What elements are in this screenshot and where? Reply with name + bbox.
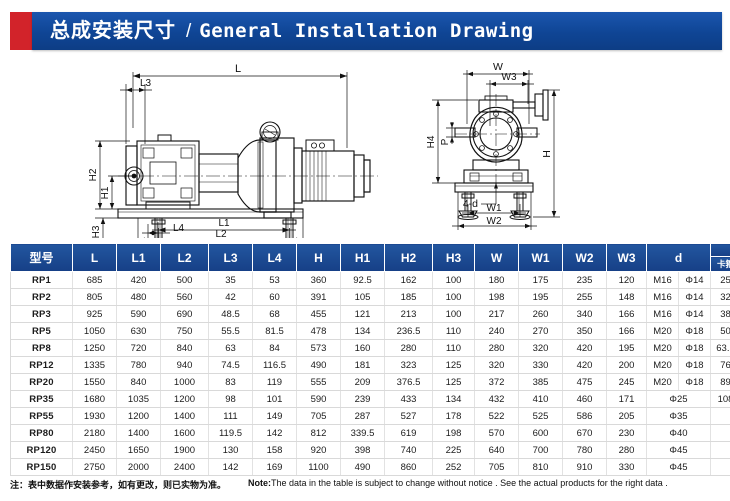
cell-H1: 160 xyxy=(341,340,385,357)
cell-H1: 92.5 xyxy=(341,272,385,289)
cell-L3: 111 xyxy=(209,408,253,425)
cell-L1: 420 xyxy=(117,272,161,289)
cell-H2: 185 xyxy=(385,289,433,306)
table-row: RP15027502000240014216911004908602527058… xyxy=(11,459,730,476)
cell-H1: 181 xyxy=(341,357,385,374)
cell-d1: M20 xyxy=(647,374,679,391)
cell-L4: 119 xyxy=(253,374,297,391)
dim-label-L: L xyxy=(235,63,241,75)
cell-L2: 500 xyxy=(161,272,209,289)
cell-d-merged: Φ40 xyxy=(647,425,711,442)
cell-H: 812 xyxy=(297,425,341,442)
page-title-chinese: 总成安装尺寸 xyxy=(50,21,176,41)
table-body: RP1685420500355336092.516210018017523512… xyxy=(11,272,730,476)
cell-L3: 83 xyxy=(209,374,253,391)
cell-H1: 490 xyxy=(341,459,385,476)
cell-W3: 166 xyxy=(607,306,647,323)
cell-W3: 120 xyxy=(607,272,647,289)
cell-L: 1250 xyxy=(73,340,117,357)
dim-label-H3: H3 xyxy=(91,225,102,238)
cell-H: 1100 xyxy=(297,459,341,476)
cell-H1: 105 xyxy=(341,289,385,306)
cell-W2: 670 xyxy=(563,425,607,442)
col-header-W1: W1 xyxy=(519,244,563,272)
cell-H3: 100 xyxy=(433,272,475,289)
cell-H2: 162 xyxy=(385,272,433,289)
cell-L: 1550 xyxy=(73,374,117,391)
side-elevation-view: L L3 xyxy=(88,63,378,238)
table-row: RP80218014001600119.5142812339.561919857… xyxy=(11,425,730,442)
header-row-top: 型号 L L1 L2 L3 L4 H H1 H2 H3 W W1 W2 W3 d… xyxy=(11,244,730,257)
cell-p1: 50 xyxy=(711,323,730,340)
cell-H1: 134 xyxy=(341,323,385,340)
dim-label-L4: L4 xyxy=(173,223,185,234)
dim-label-W3: W3 xyxy=(502,72,517,83)
cell-L2: 750 xyxy=(161,323,209,340)
cell-model: RP55 xyxy=(11,408,73,425)
cell-H2: 527 xyxy=(385,408,433,425)
cell-d1: M16 xyxy=(647,306,679,323)
dim-label-P: P xyxy=(440,138,451,145)
cell-p-merged: DN125 xyxy=(711,408,730,425)
cell-W2: 475 xyxy=(563,374,607,391)
cell-W2: 340 xyxy=(563,306,607,323)
dim-label-H4: H4 xyxy=(426,135,437,148)
cell-L1: 1400 xyxy=(117,425,161,442)
cell-H2: 740 xyxy=(385,442,433,459)
cell-H: 490 xyxy=(297,357,341,374)
cell-L2: 2400 xyxy=(161,459,209,476)
cell-H3: 134 xyxy=(433,391,475,408)
cell-H3: 178 xyxy=(433,408,475,425)
installation-drawing-page: 总成安装尺寸 / General Installation Drawing xyxy=(0,0,730,501)
specifications-table-wrapper: 型号 L L1 L2 L3 L4 H H1 H2 H3 W W1 W2 W3 d… xyxy=(10,243,722,476)
cell-model: RP12 xyxy=(11,357,73,374)
dim-label-L1: L1 xyxy=(218,218,230,229)
col-header-W3: W3 xyxy=(607,244,647,272)
cell-d-merged: Φ35 xyxy=(647,408,711,425)
col-header-H2: H2 xyxy=(385,244,433,272)
cell-model: RP3 xyxy=(11,306,73,323)
cell-d2: Φ18 xyxy=(679,357,711,374)
cell-W3: 280 xyxy=(607,442,647,459)
cell-W: 180 xyxy=(475,272,519,289)
cell-L: 1050 xyxy=(73,323,117,340)
footer-note-label: Note: xyxy=(248,478,271,488)
table-row: RP81250720840638457316028011028032042019… xyxy=(11,340,730,357)
col-header-W2: W2 xyxy=(563,244,607,272)
cell-W3: 195 xyxy=(607,340,647,357)
gearbox-side xyxy=(199,154,238,192)
col-header-d: d xyxy=(647,244,711,272)
cell-W: 705 xyxy=(475,459,519,476)
cell-L4: 142 xyxy=(253,425,297,442)
cell-p-merged: DN150 xyxy=(711,459,730,476)
cell-L4: 68 xyxy=(253,306,297,323)
cell-H3: 198 xyxy=(433,425,475,442)
cell-W1: 600 xyxy=(519,425,563,442)
cell-H1: 209 xyxy=(341,374,385,391)
table-row: RP12133578094074.5116.549018132312532033… xyxy=(11,357,730,374)
cell-L3: 55.5 xyxy=(209,323,253,340)
cell-L: 2750 xyxy=(73,459,117,476)
cell-H: 455 xyxy=(297,306,341,323)
cell-W: 372 xyxy=(475,374,519,391)
dim-label-4-d: 4-d xyxy=(463,198,478,210)
col-header-model: 型号 xyxy=(11,244,73,272)
cell-H: 391 xyxy=(297,289,341,306)
cell-W: 198 xyxy=(475,289,519,306)
cell-p-merged: DN125 xyxy=(711,425,730,442)
cell-model: RP35 xyxy=(11,391,73,408)
cell-W3: 330 xyxy=(607,459,647,476)
cell-H2: 433 xyxy=(385,391,433,408)
cell-L: 1930 xyxy=(73,408,117,425)
cell-L1: 630 xyxy=(117,323,161,340)
cell-L: 1680 xyxy=(73,391,117,408)
cell-W2: 235 xyxy=(563,272,607,289)
cell-W3: 205 xyxy=(607,408,647,425)
cell-d2: Φ14 xyxy=(679,272,711,289)
cell-W1: 410 xyxy=(519,391,563,408)
cell-L2: 840 xyxy=(161,340,209,357)
cell-L4: 116.5 xyxy=(253,357,297,374)
cell-L4: 81.5 xyxy=(253,323,297,340)
cell-L4: 84 xyxy=(253,340,297,357)
cell-W2: 460 xyxy=(563,391,607,408)
cell-L: 2180 xyxy=(73,425,117,442)
cell-W1: 525 xyxy=(519,408,563,425)
table-row: RP201550840100083119555209376.5125372385… xyxy=(11,374,730,391)
cell-L2: 1600 xyxy=(161,425,209,442)
cell-L4: 149 xyxy=(253,408,297,425)
table-row: RP35168010351200981015902394331344324104… xyxy=(11,391,730,408)
cell-W3: 171 xyxy=(607,391,647,408)
cell-H3: 125 xyxy=(433,374,475,391)
col-header-L1: L1 xyxy=(117,244,161,272)
cell-H: 705 xyxy=(297,408,341,425)
cell-L2: 1200 xyxy=(161,391,209,408)
cell-W2: 420 xyxy=(563,357,607,374)
cell-d-merged: Φ25 xyxy=(647,391,711,408)
specifications-table: 型号 L L1 L2 L3 L4 H H1 H2 H3 W W1 W2 W3 d… xyxy=(10,243,730,476)
cell-H2: 376.5 xyxy=(385,374,433,391)
col-header-H: H xyxy=(297,244,341,272)
pump-head-side xyxy=(125,135,199,209)
cell-L4: 169 xyxy=(253,459,297,476)
cell-L3: 63 xyxy=(209,340,253,357)
cell-L4: 53 xyxy=(253,272,297,289)
col-header-H1: H1 xyxy=(341,244,385,272)
cell-p-merged: DN150 xyxy=(711,442,730,459)
dim-label-L2: L2 xyxy=(215,229,227,238)
cell-p1: 25 xyxy=(711,272,730,289)
cell-d2: Φ18 xyxy=(679,323,711,340)
cell-W1: 810 xyxy=(519,459,563,476)
cell-model: RP5 xyxy=(11,323,73,340)
dim-label-H1: H1 xyxy=(100,186,111,199)
cell-W: 432 xyxy=(475,391,519,408)
cell-H: 360 xyxy=(297,272,341,289)
cell-H1: 339.5 xyxy=(341,425,385,442)
cell-H: 590 xyxy=(297,391,341,408)
cell-L3: 142 xyxy=(209,459,253,476)
technical-drawing-area: L L3 xyxy=(0,52,730,238)
cell-L3: 35 xyxy=(209,272,253,289)
cell-L2: 1900 xyxy=(161,442,209,459)
cell-H: 573 xyxy=(297,340,341,357)
table-row: RP12024501650190013015892039874022564070… xyxy=(11,442,730,459)
cell-d2: Φ14 xyxy=(679,306,711,323)
cell-H3: 110 xyxy=(433,340,475,357)
footer-note-english: Note:The data in the table is subject to… xyxy=(248,478,668,488)
cell-W3: 148 xyxy=(607,289,647,306)
cell-W1: 320 xyxy=(519,340,563,357)
cell-d1: M16 xyxy=(647,289,679,306)
title-separator: / xyxy=(186,22,191,41)
cell-H: 555 xyxy=(297,374,341,391)
cell-L1: 590 xyxy=(117,306,161,323)
cell-d-merged: Φ45 xyxy=(647,459,711,476)
cell-H3: 125 xyxy=(433,357,475,374)
cell-p1: 63.5 xyxy=(711,340,730,357)
cell-L4: 158 xyxy=(253,442,297,459)
cell-H1: 121 xyxy=(341,306,385,323)
side-outlet-flange xyxy=(513,90,548,120)
cell-L2: 560 xyxy=(161,289,209,306)
col-header-L2: L2 xyxy=(161,244,209,272)
cell-L1: 720 xyxy=(117,340,161,357)
cell-d1: M16 xyxy=(647,272,679,289)
col-header-P-clamp: 卡箍 xyxy=(711,257,730,272)
col-header-H3: H3 xyxy=(433,244,475,272)
dim-label-W1: W1 xyxy=(487,203,502,214)
col-header-L: L xyxy=(73,244,117,272)
cell-W3: 230 xyxy=(607,425,647,442)
cell-L3: 119.5 xyxy=(209,425,253,442)
cell-L2: 690 xyxy=(161,306,209,323)
title-accent-block xyxy=(10,12,32,50)
dim-label-H2: H2 xyxy=(88,168,99,181)
cell-L1: 1650 xyxy=(117,442,161,459)
cell-H3: 225 xyxy=(433,442,475,459)
cell-L3: 42 xyxy=(209,289,253,306)
page-title-english: General Installation Drawing xyxy=(199,22,533,41)
dim-label-W2: W2 xyxy=(487,216,502,227)
cell-L1: 780 xyxy=(117,357,161,374)
cell-L1: 480 xyxy=(117,289,161,306)
cell-d1: M20 xyxy=(647,357,679,374)
cell-H3: 252 xyxy=(433,459,475,476)
cell-L: 685 xyxy=(73,272,117,289)
cell-L: 805 xyxy=(73,289,117,306)
cell-p1: 108 xyxy=(711,391,730,408)
cell-L2: 1000 xyxy=(161,374,209,391)
cell-model: RP2 xyxy=(11,289,73,306)
table-row: RP5105063075055.581.5478134236.511024027… xyxy=(11,323,730,340)
table-row: RP55193012001400111149705287527178522525… xyxy=(11,408,730,425)
cell-W3: 166 xyxy=(607,323,647,340)
cell-p1: 38 xyxy=(711,306,730,323)
cell-W: 522 xyxy=(475,408,519,425)
cell-model: RP150 xyxy=(11,459,73,476)
cell-p1: 89 xyxy=(711,374,730,391)
cell-H3: 100 xyxy=(433,306,475,323)
cell-W1: 385 xyxy=(519,374,563,391)
title-bar-body: 总成安装尺寸 / General Installation Drawing xyxy=(32,12,722,50)
cell-H2: 236.5 xyxy=(385,323,433,340)
cell-d2: Φ18 xyxy=(679,340,711,357)
cell-d1: M20 xyxy=(647,323,679,340)
col-header-W: W xyxy=(475,244,519,272)
cell-H3: 100 xyxy=(433,289,475,306)
cell-W2: 420 xyxy=(563,340,607,357)
dim-label-L3: L3 xyxy=(140,78,152,89)
table-row: RP1685420500355336092.516210018017523512… xyxy=(11,272,730,289)
table-header: 型号 L L1 L2 L3 L4 H H1 H2 H3 W W1 W2 W3 d… xyxy=(11,244,730,272)
dim-label-H: H xyxy=(541,150,553,158)
end-elevation-view: W W3 xyxy=(426,61,560,230)
col-header-L4: L4 xyxy=(253,244,297,272)
cell-L: 925 xyxy=(73,306,117,323)
cell-L1: 1035 xyxy=(117,391,161,408)
cell-d2: Φ18 xyxy=(679,374,711,391)
cell-H3: 110 xyxy=(433,323,475,340)
cell-H2: 860 xyxy=(385,459,433,476)
cell-W1: 330 xyxy=(519,357,563,374)
cell-H: 478 xyxy=(297,323,341,340)
cell-L3: 98 xyxy=(209,391,253,408)
cell-L: 1335 xyxy=(73,357,117,374)
cell-d-merged: Φ45 xyxy=(647,442,711,459)
cell-L2: 940 xyxy=(161,357,209,374)
cell-model: RP8 xyxy=(11,340,73,357)
cell-W1: 175 xyxy=(519,272,563,289)
footer-note-chinese: 注：表中数据作安装参考，如有更改，则已实物为准。 xyxy=(10,478,226,491)
cell-L: 2450 xyxy=(73,442,117,459)
cell-p1: 76 xyxy=(711,357,730,374)
cell-d2: Φ14 xyxy=(679,289,711,306)
cell-model: RP1 xyxy=(11,272,73,289)
cell-W2: 255 xyxy=(563,289,607,306)
footer-note-text: The data in the table is subject to chan… xyxy=(271,478,668,488)
cell-W2: 780 xyxy=(563,442,607,459)
cell-H2: 280 xyxy=(385,340,433,357)
cell-H2: 323 xyxy=(385,357,433,374)
cell-W1: 700 xyxy=(519,442,563,459)
cell-H2: 213 xyxy=(385,306,433,323)
cell-L3: 130 xyxy=(209,442,253,459)
cell-L1: 1200 xyxy=(117,408,161,425)
cell-W1: 195 xyxy=(519,289,563,306)
cell-W2: 586 xyxy=(563,408,607,425)
cell-W: 570 xyxy=(475,425,519,442)
col-header-L3: L3 xyxy=(209,244,253,272)
cell-H2: 619 xyxy=(385,425,433,442)
cell-H1: 239 xyxy=(341,391,385,408)
electric-motor-side xyxy=(294,140,370,203)
cell-W3: 200 xyxy=(607,357,647,374)
cell-L3: 48.5 xyxy=(209,306,253,323)
cell-W1: 270 xyxy=(519,323,563,340)
cell-L1: 840 xyxy=(117,374,161,391)
cell-L1: 2000 xyxy=(117,459,161,476)
table-row: RP28054805604260391105185100198195255148… xyxy=(11,289,730,306)
cell-L2: 1400 xyxy=(161,408,209,425)
cell-W3: 245 xyxy=(607,374,647,391)
drawing-svg: L L3 xyxy=(0,52,730,238)
cell-H1: 287 xyxy=(341,408,385,425)
cell-H: 920 xyxy=(297,442,341,459)
cell-L4: 60 xyxy=(253,289,297,306)
cell-L3: 74.5 xyxy=(209,357,253,374)
cell-H1: 398 xyxy=(341,442,385,459)
cell-model: RP80 xyxy=(11,425,73,442)
cell-W: 320 xyxy=(475,357,519,374)
table-row: RP392559069048.5684551212131002172603401… xyxy=(11,306,730,323)
cell-W: 640 xyxy=(475,442,519,459)
reducer-body-side xyxy=(238,122,294,218)
cell-W: 280 xyxy=(475,340,519,357)
cell-W2: 350 xyxy=(563,323,607,340)
cell-L4: 101 xyxy=(253,391,297,408)
page-title-bar: 总成安装尺寸 / General Installation Drawing xyxy=(10,12,722,50)
cell-d1: M20 xyxy=(647,340,679,357)
cell-model: RP20 xyxy=(11,374,73,391)
cell-model: RP120 xyxy=(11,442,73,459)
cell-W: 240 xyxy=(475,323,519,340)
col-header-P-group: P xyxy=(711,244,730,257)
cell-W: 217 xyxy=(475,306,519,323)
cell-W1: 260 xyxy=(519,306,563,323)
cell-W2: 910 xyxy=(563,459,607,476)
cell-p1: 32 xyxy=(711,289,730,306)
footer-note: 注：表中数据作安装参考，如有更改，则已实物为准。 Note:The data i… xyxy=(10,478,722,491)
